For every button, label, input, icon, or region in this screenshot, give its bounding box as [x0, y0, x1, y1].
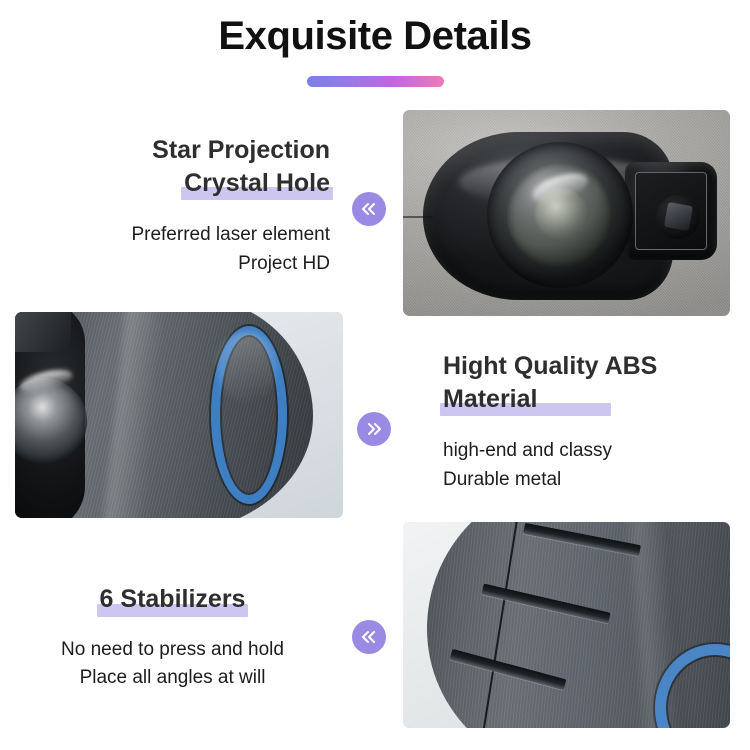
title-gradient-underline — [307, 76, 444, 87]
chevron-right-badge-abs-material — [357, 412, 391, 446]
product-photo-lens-crystal-hole — [403, 110, 730, 316]
body-line-2: Place all angles at will — [80, 667, 266, 688]
feature-body-stabilizers: No need to press and hold Place all angl… — [0, 636, 345, 694]
body-line-2: Durable metal — [443, 469, 561, 490]
body-line-1: high-end and classy — [443, 440, 612, 461]
photo-crystal-hole — [656, 195, 700, 239]
headline-line-1: Star Projection — [152, 136, 330, 164]
photo-lens-barrel — [487, 142, 633, 288]
body-line-2: Project HD — [238, 253, 330, 274]
headline-line-2-highlighted: Crystal Hole — [184, 167, 330, 200]
feature-headline-star-projection: Star Projection Crystal Hole — [0, 134, 330, 199]
product-detail-infographic: Exquisite Details Star Projection Crysta… — [0, 0, 750, 750]
feature-text-stabilizers: 6 Stabilizers No need to press and hold … — [0, 583, 345, 693]
double-chevron-right-icon — [365, 422, 383, 436]
photo-top-notch — [15, 312, 71, 352]
feature-headline-stabilizers: 6 Stabilizers — [0, 583, 345, 616]
photo-crystal-hole-frame — [635, 172, 707, 250]
feature-body-star-projection: Preferred laser element Project HD — [0, 221, 330, 279]
photo-body-seam — [403, 216, 433, 218]
photo-blue-ring-gloss — [217, 332, 277, 402]
product-photo-blue-ring-body — [15, 312, 343, 518]
headline-line-1-highlighted: 6 Stabilizers — [100, 583, 246, 616]
chevron-left-badge-stabilizers — [352, 620, 386, 654]
headline-line-2-highlighted: Material — [443, 383, 537, 416]
feature-text-star-projection: Star Projection Crystal Hole Preferred l… — [0, 134, 330, 279]
double-chevron-left-icon — [360, 630, 378, 644]
headline-line-1: Hight Quality ABS — [443, 352, 657, 380]
page-title: Exquisite Details — [0, 14, 750, 59]
feature-text-abs-material: Hight Quality ABS Material high-end and … — [443, 350, 743, 495]
body-line-1: No need to press and hold — [61, 639, 284, 660]
body-line-1: Preferred laser element — [131, 224, 330, 245]
chevron-left-badge-star-projection — [352, 192, 386, 226]
photo-crystal-hole-tab — [625, 162, 717, 260]
double-chevron-left-icon — [360, 202, 378, 216]
photo-lens-glass — [507, 162, 613, 268]
feature-headline-abs-material: Hight Quality ABS Material — [443, 350, 743, 415]
photo-crystal-square — [664, 202, 693, 231]
product-photo-stabilizer-slots — [403, 522, 730, 728]
feature-body-abs-material: high-end and classy Durable metal — [443, 437, 743, 495]
